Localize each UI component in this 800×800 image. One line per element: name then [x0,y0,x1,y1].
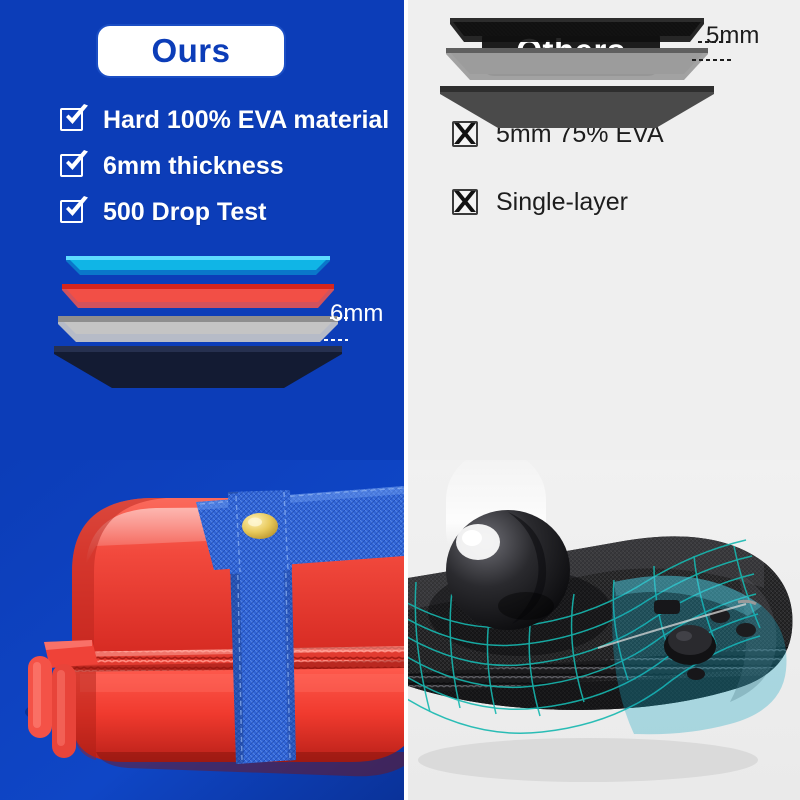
checkbox-checked-icon [60,152,89,181]
check-glyph [63,104,89,130]
feature-list-others: 5mm 75% EVA Single-layer [452,118,664,254]
navy-base-layer [54,346,342,388]
feature-row: Single-layer [452,186,664,219]
feature-label: Single-layer [496,188,628,217]
product-photo-ours [0,460,404,800]
badge-ours-label: Ours [151,32,230,70]
panel-divider [404,0,408,800]
badge-ours: Ours [98,26,284,76]
black-case-illustration [408,460,800,800]
mid-gray-layer [446,48,708,80]
zipper-pull-2 [52,664,76,758]
panel-ours: Ours Hard 100% EVA material [0,0,404,460]
feature-list-ours: Hard 100% EVA material 6mm thickness [60,104,389,242]
dimension-label-others: 5mm [706,22,759,50]
zipper-slider [44,640,98,668]
comparison-infographic: Ours Hard 100% EVA material [0,0,800,800]
snap-button [242,513,278,539]
panel-others: Others 5mm 75% EVA [408,0,800,460]
feature-label: Hard 100% EVA material [103,106,389,135]
feature-label: 500 Drop Test [103,198,266,227]
dimension-label-ours: 6mm [330,300,383,328]
top-cyan-layer [66,256,330,275]
check-glyph [63,196,89,222]
layer-stack-ours [48,248,348,388]
zipper-pull-1 [28,656,52,738]
checkbox-checked-icon [60,106,89,135]
checkbox-checked-icon [60,198,89,227]
textured-black-layer [450,18,704,42]
checkbox-crossed-icon [452,189,480,217]
cross-glyph [452,189,478,215]
dark-gray-base-layer [440,86,714,128]
product-photo-others [408,460,800,800]
feature-label: 6mm thickness [103,152,284,181]
layer-stack-others [432,8,732,128]
red-layer [62,284,334,308]
feature-row: 500 Drop Test [60,196,389,229]
feature-row: 6mm thickness [60,150,389,183]
red-case-illustration [0,460,404,800]
check-glyph [63,150,89,176]
feature-row: Hard 100% EVA material [60,104,389,137]
drop-ball [446,510,570,630]
gray-eva-layer [58,316,338,342]
